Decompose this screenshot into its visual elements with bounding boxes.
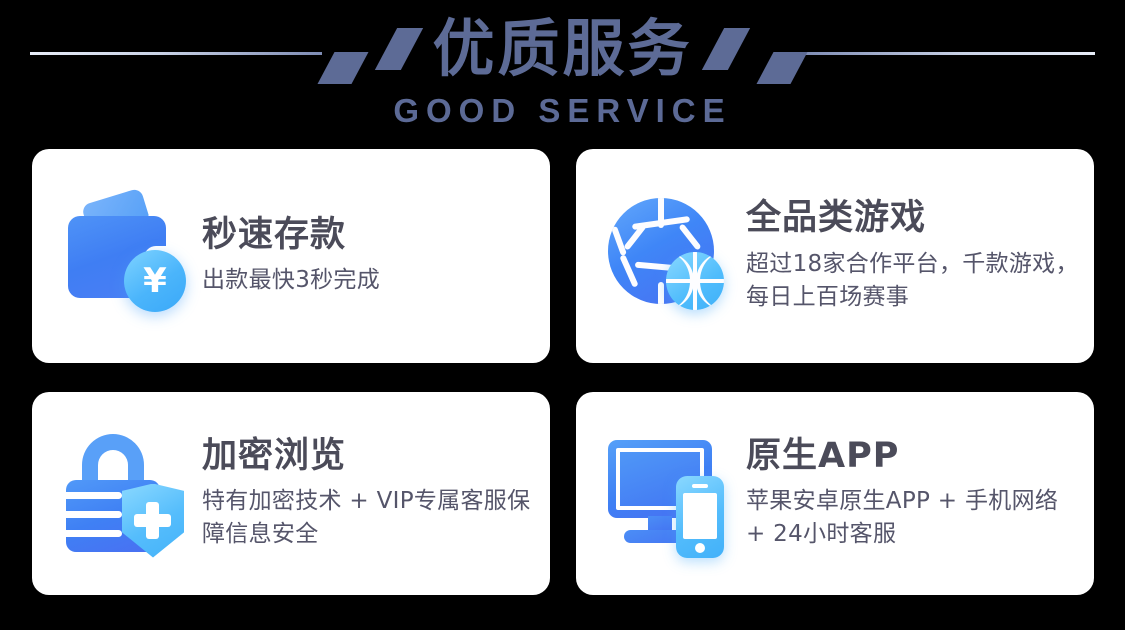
- phone-speaker: [692, 484, 708, 488]
- soccer-seam: [678, 223, 701, 250]
- card-subtitle: 特有加密技术 + VIP专属客服保障信息安全: [202, 485, 538, 551]
- card-title: 原生APP: [746, 436, 1082, 476]
- service-card-encryption[interactable]: 加密浏览 特有加密技术 + VIP专属客服保障信息安全: [32, 392, 550, 595]
- service-card-deposit[interactable]: ¥ 秒速存款 出款最快3秒完成: [32, 149, 550, 363]
- soccer-seam: [658, 282, 664, 304]
- service-card-grid: ¥ 秒速存款 出款最快3秒完成: [32, 149, 1094, 595]
- card-text: 秒速存款 出款最快3秒完成: [202, 215, 550, 297]
- page-title-row: 优质服务: [0, 10, 1125, 88]
- card-title: 秒速存款: [202, 215, 538, 255]
- soccer-basketball-icon: [604, 190, 736, 322]
- page-title: 优质服务: [432, 18, 692, 80]
- page-header: 优质服务 GOOD SERVICE: [0, 0, 1125, 146]
- phone-home-button: [695, 543, 705, 553]
- basketball-line: [666, 252, 694, 310]
- card-text: 原生APP 苹果安卓原生APP + 手机网络 + 24小时客服: [746, 436, 1094, 551]
- lock-slot: [66, 492, 122, 499]
- monitor-phone-icon: [604, 428, 736, 560]
- card-subtitle: 出款最快3秒完成: [202, 264, 538, 297]
- header-center: 优质服务 GOOD SERVICE: [0, 10, 1125, 127]
- service-card-games[interactable]: 全品类游戏 超过18家合作平台，千款游戏，每日上百场赛事: [576, 149, 1094, 363]
- card-text: 加密浏览 特有加密技术 + VIP专属客服保障信息安全: [202, 436, 550, 551]
- yen-coin-icon: ¥: [124, 250, 186, 312]
- lock-slot: [66, 530, 122, 537]
- page-subtitle: GOOD SERVICE: [0, 94, 1125, 127]
- yen-symbol: ¥: [143, 264, 167, 298]
- lock-slot: [66, 511, 122, 518]
- phone-screen: [683, 493, 717, 539]
- phone-icon: [676, 476, 724, 558]
- title-slash-left-icon: [375, 28, 423, 70]
- soccer-seam: [611, 226, 627, 256]
- card-subtitle: 超过18家合作平台，千款游戏，每日上百场赛事: [746, 248, 1082, 314]
- service-card-native-app[interactable]: 原生APP 苹果安卓原生APP + 手机网络 + 24小时客服: [576, 392, 1094, 595]
- shield-cross-icon: [134, 514, 171, 527]
- basketball-icon: [666, 252, 724, 310]
- basketball-line: [696, 252, 724, 310]
- soccer-seam: [658, 198, 664, 228]
- lock-shield-icon: [60, 428, 192, 560]
- title-slash-right-icon: [701, 28, 749, 70]
- card-title: 加密浏览: [202, 436, 538, 476]
- card-subtitle: 苹果安卓原生APP + 手机网络 + 24小时客服: [746, 485, 1082, 551]
- wallet-yen-icon: ¥: [60, 190, 192, 322]
- card-title: 全品类游戏: [746, 198, 1082, 238]
- card-text: 全品类游戏 超过18家合作平台，千款游戏，每日上百场赛事: [746, 198, 1094, 313]
- soccer-seam: [619, 254, 638, 288]
